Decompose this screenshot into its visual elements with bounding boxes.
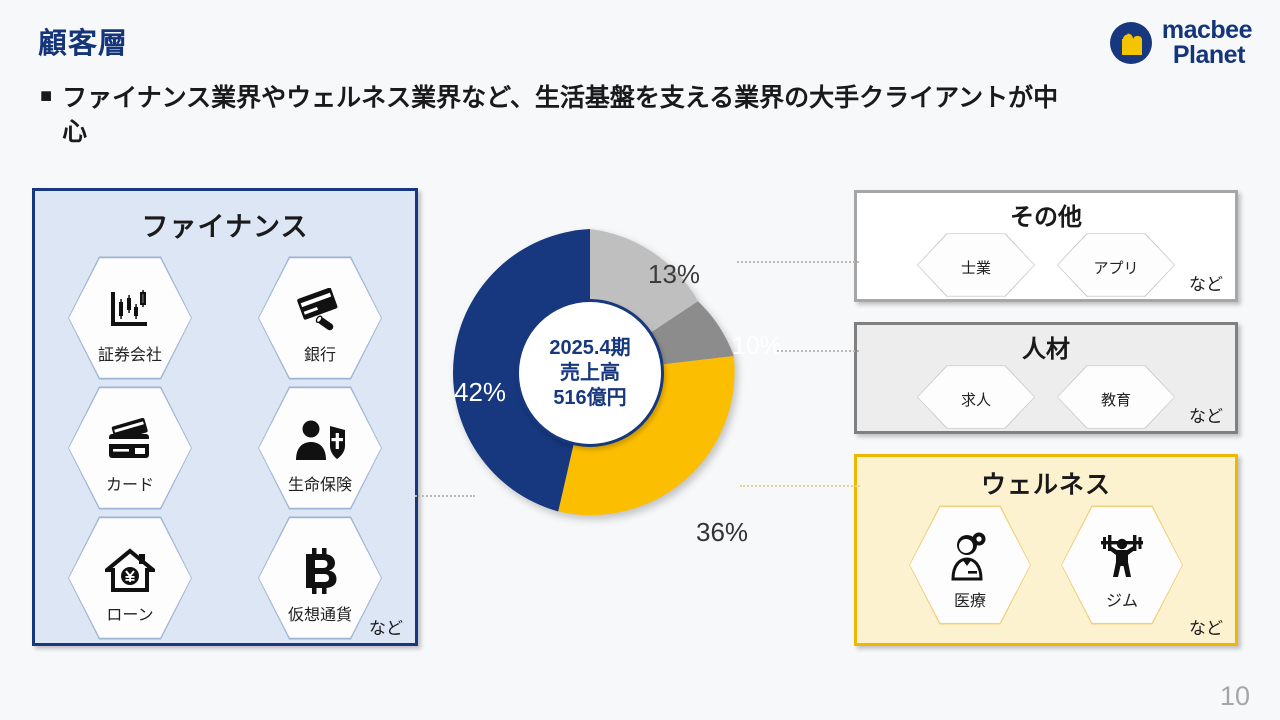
bullet-block: ■ ファイナンス業界やウェルネス業界など、生活基盤を支える業界の大手クライアント… [40, 82, 1060, 150]
slice-label-finance: 42% [454, 377, 506, 408]
hex-item-securities[interactable]: 証券会社 [68, 254, 192, 382]
hex-item-education[interactable]: 教育 [1057, 364, 1175, 430]
slice-label-other: 13% [648, 259, 700, 290]
etc-label-finance: など [369, 614, 403, 639]
hex-label: アプリ [1093, 257, 1138, 278]
hex-label: 求人 [961, 389, 991, 410]
slide-canvas: 顧客層 ■ ファイナンス業界やウェルネス業界など、生活基盤を支える業界の大手クラ… [0, 0, 1280, 720]
logo-line-2: Planet [1173, 43, 1252, 68]
slice-label-hr: 10% [732, 332, 782, 361]
finance-hex-grid: 証券会社 [35, 254, 415, 642]
wellness-hex-row: 医療 ジム [857, 503, 1235, 627]
hex-label: 仮想通貨 [288, 601, 352, 625]
house-yen-icon [105, 543, 155, 599]
brand-logo: macbee Planet [1109, 18, 1252, 67]
etc-label-other: など [1189, 270, 1223, 295]
hex-item-recruiting[interactable]: 求人 [917, 364, 1035, 430]
macbee-circle-icon [1109, 21, 1153, 65]
etc-label-wellness: など [1189, 614, 1223, 639]
etc-label-hr: など [1189, 402, 1223, 427]
hex-item-app[interactable]: アプリ [1057, 232, 1175, 298]
credit-cards-icon [104, 413, 156, 469]
doctor-icon [947, 529, 993, 585]
candlestick-chart-icon [106, 283, 154, 339]
connector-wellness [740, 485, 860, 487]
bitcoin-icon [298, 543, 342, 599]
hex-item-card[interactable]: カード [68, 384, 192, 512]
logo-line-1: macbee [1162, 18, 1252, 43]
hex-item-gym[interactable]: ジム [1061, 503, 1183, 627]
hex-item-crypto[interactable]: 仮想通貨 [258, 514, 382, 642]
hex-label: 証券会社 [98, 341, 162, 365]
other-hex-row: 士業 アプリ [857, 232, 1235, 298]
hex-item-professional-services[interactable]: 士業 [917, 232, 1035, 298]
hex-label: カード [106, 471, 154, 495]
hex-item-life-insurance[interactable]: 生命保険 [258, 384, 382, 512]
panel-wellness-title: ウェルネス [857, 465, 1235, 501]
logo-wordmark: macbee Planet [1162, 18, 1252, 67]
slice-label-wellness: 36% [696, 517, 748, 548]
hex-label: ジム [1106, 587, 1138, 611]
panel-wellness[interactable]: ウェルネス 医療 [854, 454, 1238, 646]
center-line-3: 516億円 [553, 386, 626, 411]
hex-label: 士業 [961, 257, 991, 278]
hr-hex-row: 求人 教育 [857, 364, 1235, 430]
person-shield-cross-icon [294, 413, 346, 469]
weightlifter-icon [1095, 529, 1149, 585]
panel-hr-title: 人材 [857, 329, 1235, 364]
hex-label: 生命保険 [288, 471, 352, 495]
hex-label: 銀行 [304, 341, 336, 365]
bank-card-stamp-icon [295, 283, 345, 339]
panel-other-title: その他 [857, 197, 1235, 232]
hex-item-medical[interactable]: 医療 [909, 503, 1031, 627]
hex-label: 教育 [1101, 389, 1131, 410]
panel-finance[interactable]: ファイナンス 証券会社 [32, 188, 418, 646]
connector-hr [777, 350, 859, 352]
bullet-marker: ■ [40, 82, 52, 111]
bullet-text: ファイナンス業界やウェルネス業界など、生活基盤を支える業界の大手クライアントが中… [62, 82, 1060, 150]
hex-label: 医療 [954, 587, 986, 611]
center-line-1: 2025.4期 [549, 336, 630, 361]
panel-hr[interactable]: 人材 求人 教育 など [854, 322, 1238, 434]
panel-finance-title: ファイナンス [35, 205, 415, 244]
connector-other [737, 261, 859, 263]
page-number: 10 [1220, 681, 1250, 712]
hex-item-bank[interactable]: 銀行 [258, 254, 382, 382]
panel-other[interactable]: その他 士業 アプリ など [854, 190, 1238, 302]
donut-center-label: 2025.4期 売上高 516億円 [516, 299, 664, 447]
hex-label: ローン [106, 601, 153, 625]
center-line-2: 売上高 [560, 361, 620, 386]
page-title: 顧客層 [38, 20, 128, 62]
revenue-donut-chart: 2025.4期 売上高 516億円 13% 10% 36% 42% [445, 228, 735, 518]
hex-item-loan[interactable]: ローン [68, 514, 192, 642]
